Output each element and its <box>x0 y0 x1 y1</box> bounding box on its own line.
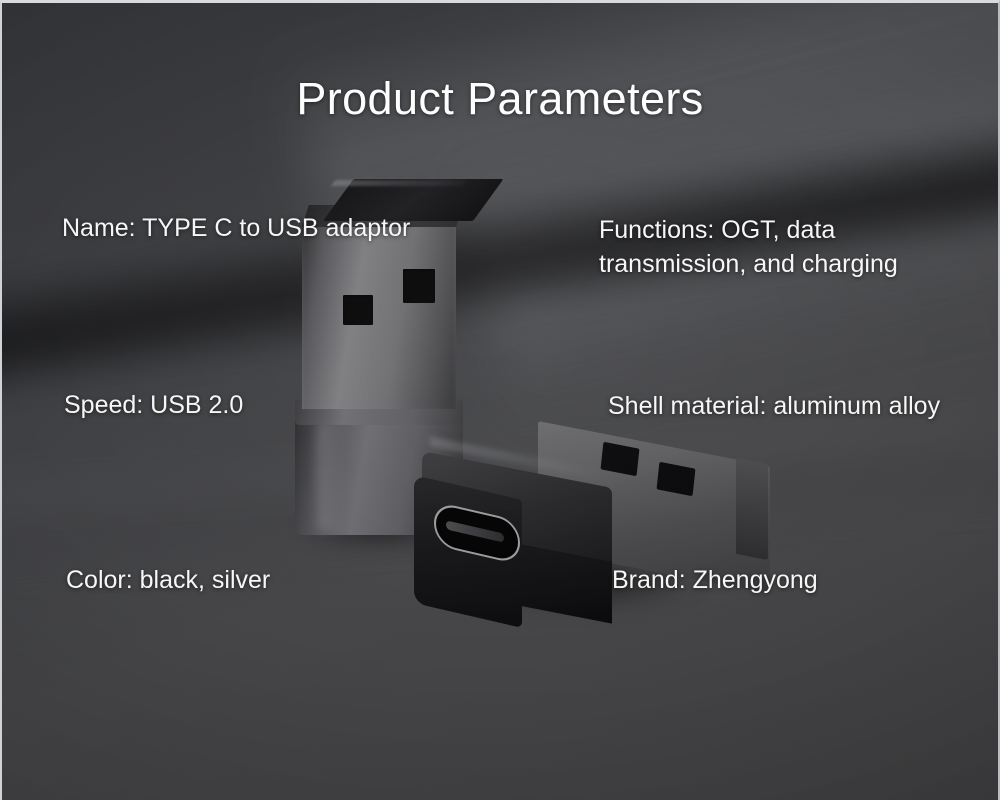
spec-brand: Brand: Zhengyong <box>612 563 818 597</box>
spec-shell-material: Shell material: aluminum alloy <box>608 389 940 423</box>
spec-name: Name: TYPE C to USB adaptor <box>62 211 410 245</box>
spec-color: Color: black, silver <box>66 563 270 597</box>
page-title: Product Parameters <box>2 73 998 125</box>
spec-speed: Speed: USB 2.0 <box>64 388 243 422</box>
product-parameters-image: Product Parameters Name: TYPE C to USB a… <box>0 0 1000 800</box>
spec-functions: Functions: OGT, data transmission, and c… <box>599 213 999 281</box>
